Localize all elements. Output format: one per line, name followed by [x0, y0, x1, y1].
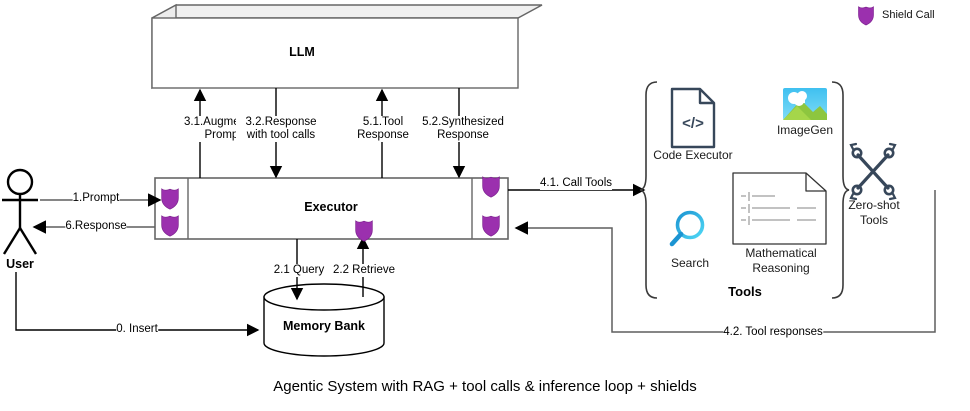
llm-label: LLM: [289, 46, 315, 59]
code-document-icon: </>: [672, 89, 714, 147]
edge-label-synthesized-response: 5.2.Synthesized Response: [412, 116, 514, 142]
executor-label: Executor: [304, 201, 358, 214]
edge-label-response: 6.Response: [65, 220, 126, 233]
math-document-icon: [733, 173, 826, 244]
image-picture-icon: [783, 88, 827, 120]
tool-label-zero-shot-tools: Zero-shot Tools: [836, 198, 912, 227]
tool-label-mathematical-reasoning: Mathematical Reasoning: [726, 246, 836, 275]
edge-label-tool-responses: 4.2. Tool responses: [723, 326, 823, 339]
legend-shield-label: Shield Call: [882, 9, 935, 21]
tool-label-search: Search: [661, 256, 719, 271]
edge-label-insert: 0. Insert: [116, 323, 158, 336]
svg-text:</>: </>: [682, 115, 704, 132]
edge-label-query: 2.1 Query: [274, 264, 325, 277]
edge-label-prompt: 1.Prompt: [73, 192, 120, 205]
edge-label-retrieve: 2.2 Retrieve: [333, 264, 395, 277]
edge-label-response-with-tool-calls: 3.2.Response with tool calls: [236, 116, 326, 142]
magnifier-icon: [672, 213, 703, 245]
diagram-canvas: </>: [0, 0, 970, 411]
tool-label-code-executor: Code Executor: [648, 148, 738, 163]
edge-insert: [16, 272, 258, 330]
memory-bank-label: Memory Bank: [283, 320, 365, 333]
crossed-wrenches-icon: [851, 144, 895, 199]
tools-group-label: Tools: [728, 285, 762, 298]
llm-node: [152, 5, 542, 88]
shield-icon: [859, 7, 874, 25]
tool-label-imagegen: ImageGen: [768, 123, 842, 138]
edge-label-call-tools: 4.1. Call Tools: [540, 177, 612, 190]
user-label: User: [6, 258, 34, 271]
diagram-caption: Agentic System with RAG + tool calls & i…: [273, 378, 697, 395]
user-actor: [2, 170, 38, 254]
diagram-vector-layer: </>: [0, 0, 970, 411]
